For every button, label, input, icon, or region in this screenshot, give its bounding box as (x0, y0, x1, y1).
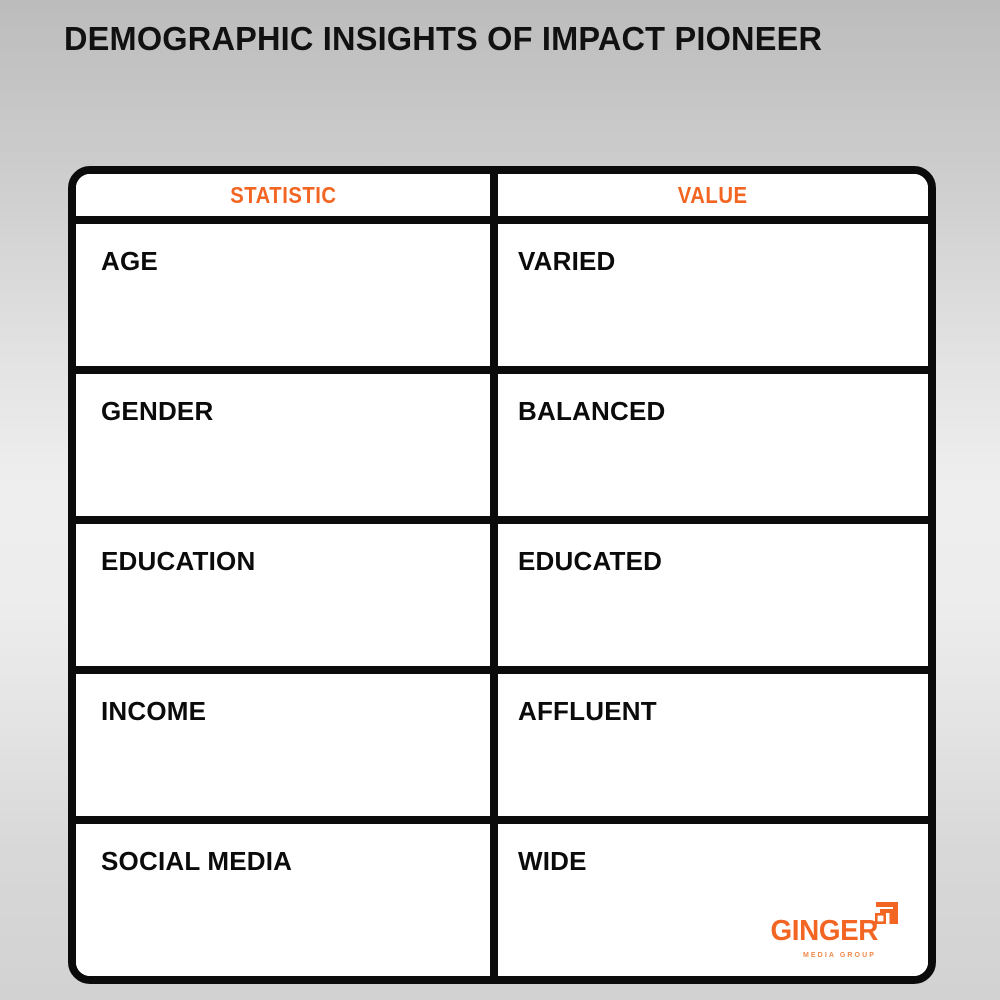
cell-statistic: SOCIAL MEDIA (76, 824, 498, 976)
cell-statistic: INCOME (76, 674, 498, 816)
column-header-statistic-label: STATISTIC (230, 182, 336, 209)
value-label: VARIED (498, 246, 928, 277)
table-row: EDUCATION EDUCATED (76, 524, 928, 674)
cell-value: WIDE GINGER MEDIA GROUP (498, 824, 928, 976)
statistic-label: SOCIAL MEDIA (76, 846, 490, 877)
logo-wordmark: GINGER (770, 917, 878, 946)
statistic-label: AGE (76, 246, 490, 277)
value-label: EDUCATED (498, 546, 928, 577)
cell-value: AFFLUENT (498, 674, 928, 816)
value-label: AFFLUENT (498, 696, 928, 727)
cell-statistic: GENDER (76, 374, 498, 516)
ginger-media-group-logo: GINGER MEDIA GROUP (774, 900, 904, 962)
header-cell-value: VALUE (498, 174, 928, 216)
header-cell-statistic: STATISTIC (76, 174, 498, 216)
table-row: INCOME AFFLUENT (76, 674, 928, 824)
logo-tagline: MEDIA GROUP (803, 952, 876, 959)
cell-statistic: EDUCATION (76, 524, 498, 666)
value-label: BALANCED (498, 396, 928, 427)
value-label: WIDE (498, 846, 928, 877)
column-header-value-label: VALUE (678, 182, 748, 209)
page-title: DEMOGRAPHIC INSIGHTS OF IMPACT PIONEER (64, 20, 822, 58)
table-row: GENDER BALANCED (76, 374, 928, 524)
cell-value: EDUCATED (498, 524, 928, 666)
table-body: STATISTIC VALUE AGE VARIED GENDER (76, 174, 928, 976)
statistics-table: STATISTIC VALUE AGE VARIED GENDER (68, 166, 936, 984)
statistic-label: GENDER (76, 396, 490, 427)
table-header-row: STATISTIC VALUE (76, 174, 928, 224)
cell-value: VARIED (498, 224, 928, 366)
statistic-label: EDUCATION (76, 546, 490, 577)
table-row: SOCIAL MEDIA WIDE GINGER (76, 824, 928, 976)
infographic-page: DEMOGRAPHIC INSIGHTS OF IMPACT PIONEER S… (0, 0, 1000, 1000)
statistic-label: INCOME (76, 696, 490, 727)
cell-statistic: AGE (76, 224, 498, 366)
cell-value: BALANCED (498, 374, 928, 516)
table-row: AGE VARIED (76, 224, 928, 374)
